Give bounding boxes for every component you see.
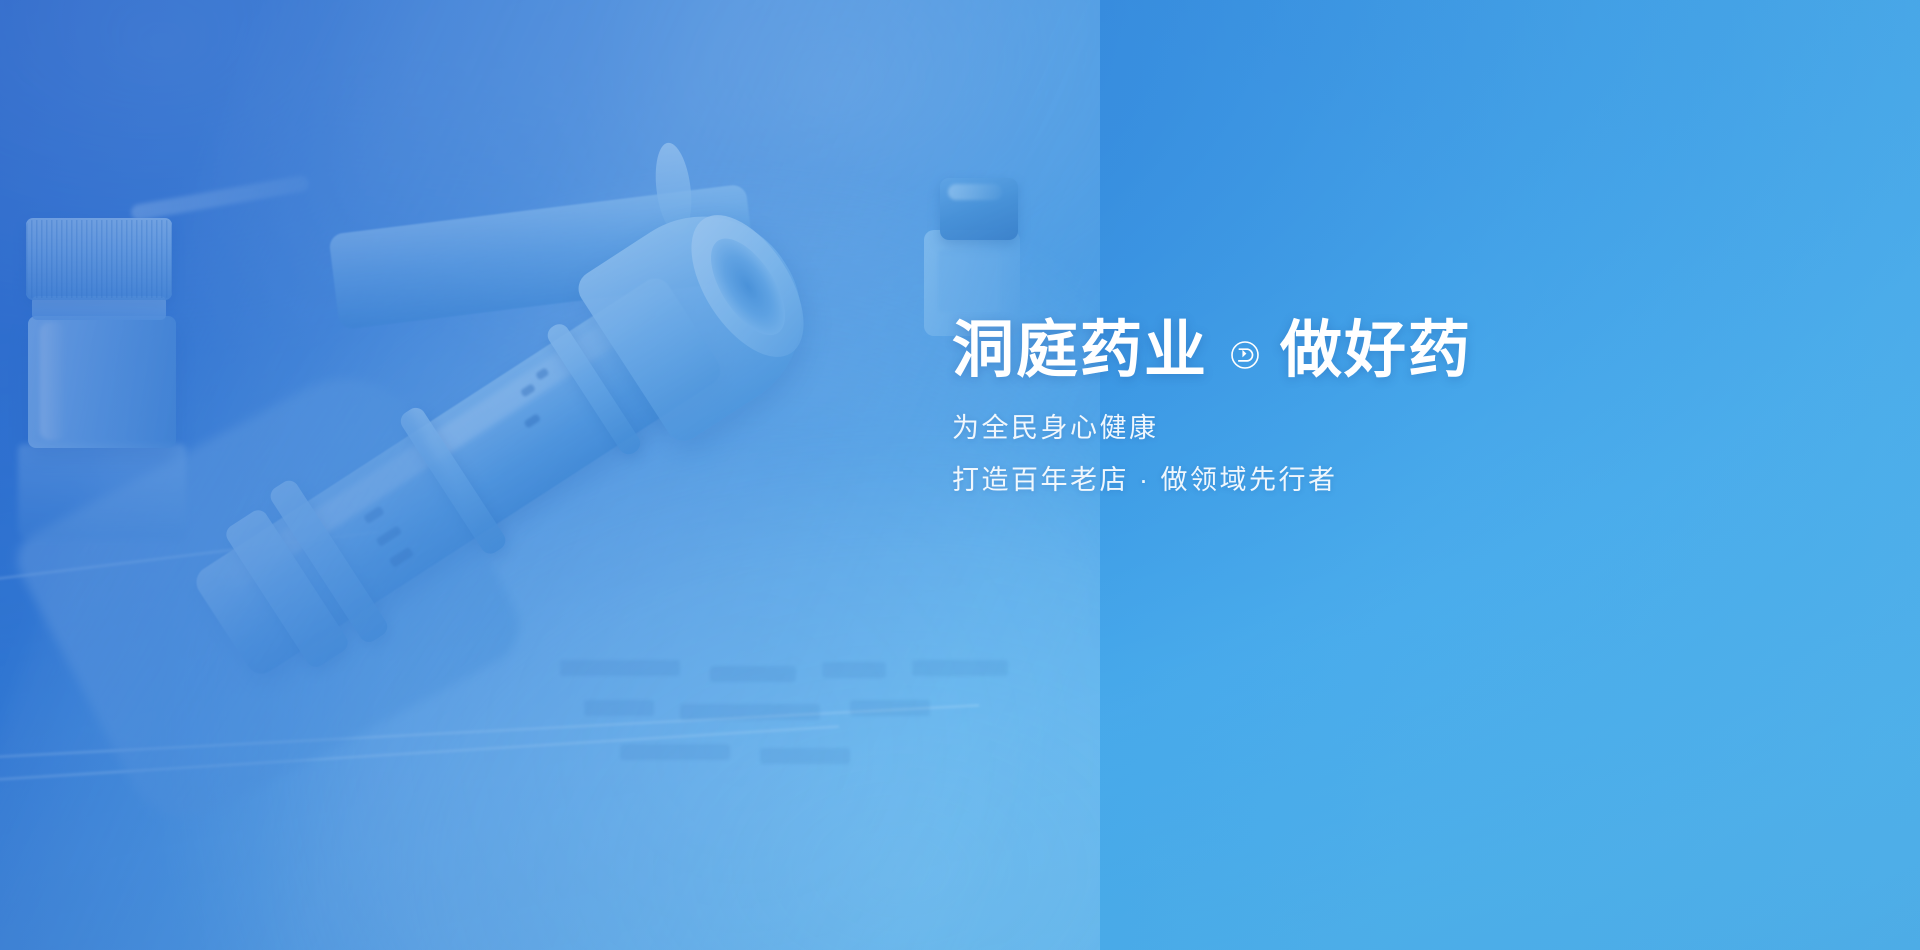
hero-banner: 洞庭药业 做好药 为全民身心健康 打造百年老店 · 做领域先行者 <box>0 0 1920 950</box>
dongting-circle-d-logo-icon <box>1230 340 1260 370</box>
headline-slogan: 做好药 <box>1280 318 1472 383</box>
tagline-line-2: 打造百年老店 · 做领域先行者 <box>952 459 1672 503</box>
hero-tagline: 为全民身心健康 打造百年老店 · 做领域先行者 <box>952 407 1672 502</box>
hero-copy: 洞庭药业 做好药 为全民身心健康 打造百年老店 · 做领域先行者 <box>952 318 1672 503</box>
hero-headline: 洞庭药业 做好药 <box>952 318 1672 383</box>
tagline-line-1: 为全民身心健康 <box>952 407 1672 451</box>
headline-brand-name: 洞庭药业 <box>952 318 1208 383</box>
